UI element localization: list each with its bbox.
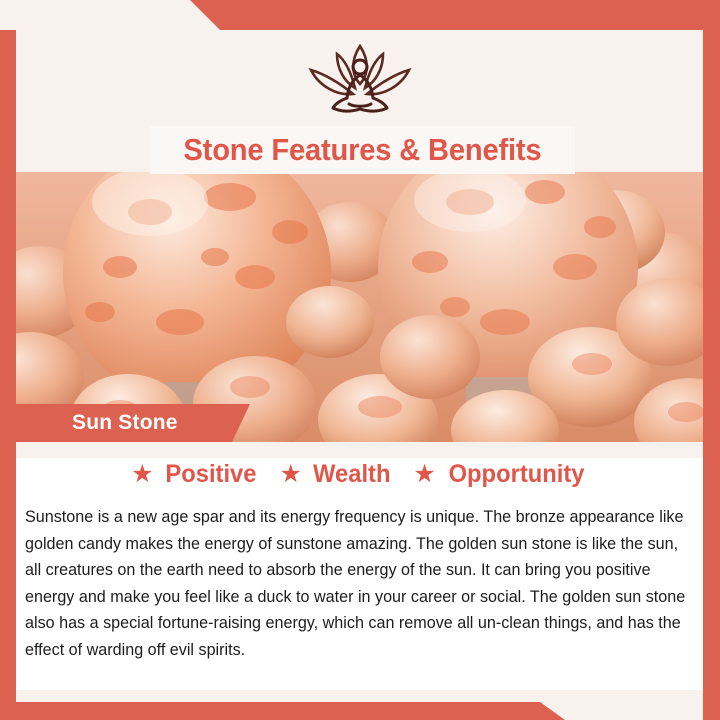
benefits-row: ★ Positive ★ Wealth ★ Opportunity xyxy=(16,460,703,489)
infographic-page: BUDDHA STONES Stone Features & Benefits … xyxy=(0,0,720,720)
stone-name: Sun Stone xyxy=(72,411,178,435)
card-top-divider xyxy=(16,442,703,458)
stone-photo-illustration xyxy=(0,172,720,442)
star-icon: ★ xyxy=(131,462,153,487)
benefit-item-wealth: ★ Wealth xyxy=(279,460,392,489)
page-title-banner: Stone Features & Benefits xyxy=(150,126,575,174)
frame-right-accent xyxy=(703,0,720,720)
page-title: Stone Features & Benefits xyxy=(183,132,541,168)
frame-left-accent xyxy=(0,30,16,720)
benefit-item-opportunity: ★ Opportunity xyxy=(413,460,587,489)
benefit-item-positive: ★ Positive xyxy=(131,460,258,489)
stone-description: Sunstone is a new age spar and its energ… xyxy=(25,504,687,663)
benefit-label: Wealth xyxy=(313,460,390,489)
lotus-meditation-icon xyxy=(285,36,435,124)
stone-name-tab: Sun Stone xyxy=(0,404,250,442)
frame-bottom-accent xyxy=(0,702,720,720)
star-icon: ★ xyxy=(279,462,301,487)
content-card: ★ Positive ★ Wealth ★ Opportunity Sunsto… xyxy=(16,442,703,690)
frame-top-accent xyxy=(0,0,720,30)
benefit-label: Positive xyxy=(165,460,256,489)
star-icon: ★ xyxy=(413,462,435,487)
stone-photo xyxy=(0,172,720,442)
benefit-label: Opportunity xyxy=(448,460,584,489)
